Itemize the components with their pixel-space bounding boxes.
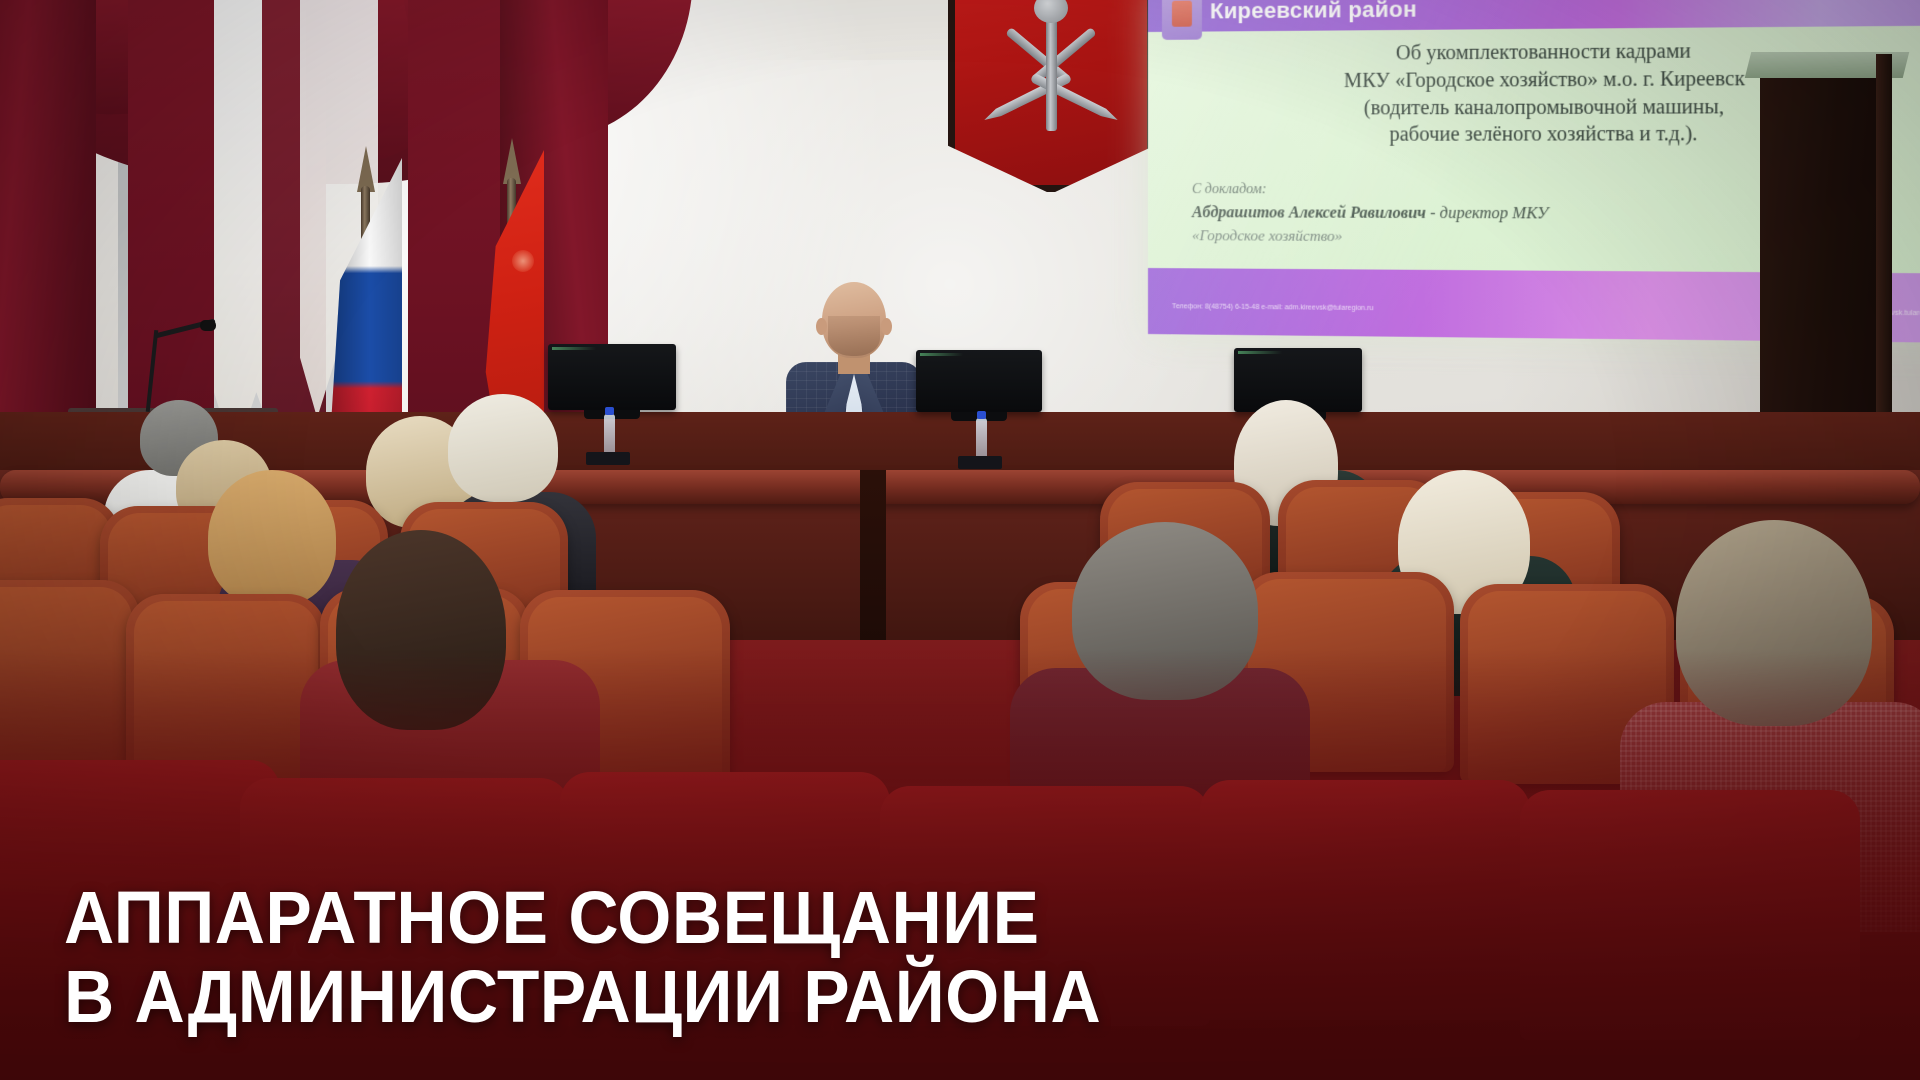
official-ear — [816, 318, 827, 335]
slide-speaker-name: Абдрашитов Алексей Равилович — [1192, 204, 1426, 222]
desk-microphone-icon — [958, 456, 1002, 469]
saber-icon — [1030, 72, 1121, 123]
kireevsk-coat-of-arms-icon — [1162, 0, 1202, 40]
audience-hair — [448, 394, 558, 502]
video-caption: АППАРАТНОЕ СОВЕЩАНИЕ В АДМИНИСТРАЦИИ РАЙ… — [64, 878, 1474, 1036]
desk-microphone-icon — [586, 452, 630, 465]
audience-hair — [1676, 520, 1872, 726]
video-frame: Муниципальное образование Киреевский рай… — [0, 0, 1920, 1080]
auditorium-seat — [1520, 790, 1860, 1040]
audience-hair — [208, 470, 336, 606]
auditorium-seat — [0, 580, 140, 770]
regional-flag-emblem-icon — [512, 250, 534, 272]
slide-footer-contact: Телефон: 8(48754) 6-15-48 e-mail: adm.ki… — [1172, 302, 1374, 314]
presidium-monitor — [548, 344, 676, 410]
slide-speaker-role: - директор МКУ — [1426, 205, 1548, 223]
official-face-shadow — [828, 316, 880, 356]
slide-speaker-org: «Городское хозяйство» — [1192, 228, 1343, 246]
mace-shaft-icon — [1046, 5, 1057, 131]
coat-of-arms-charges — [955, 0, 1147, 185]
microphone-icon — [200, 320, 216, 331]
presidium-monitor — [916, 350, 1042, 412]
mace-head-icon — [1034, 0, 1068, 23]
slide-header-line2: Киреевский район — [1210, 0, 1417, 23]
caption-line-1: АППАРАТНОЕ СОВЕЩАНИЕ — [64, 878, 1474, 957]
audience-hair — [1072, 522, 1258, 700]
caption-line-2: В АДМИНИСТРАЦИИ РАЙОНА — [64, 957, 1474, 1036]
slide-speaker: Абдрашитов Алексей Равилович - директор … — [1192, 204, 1548, 223]
slide-header-text: Муниципальное образование Киреевский рай… — [1210, 0, 1417, 23]
official-ear — [881, 318, 892, 335]
saber-icon — [982, 72, 1073, 123]
audience-hair — [336, 530, 506, 730]
auditorium-seat — [126, 594, 326, 784]
slide-report-label: С докладом: — [1192, 182, 1267, 198]
